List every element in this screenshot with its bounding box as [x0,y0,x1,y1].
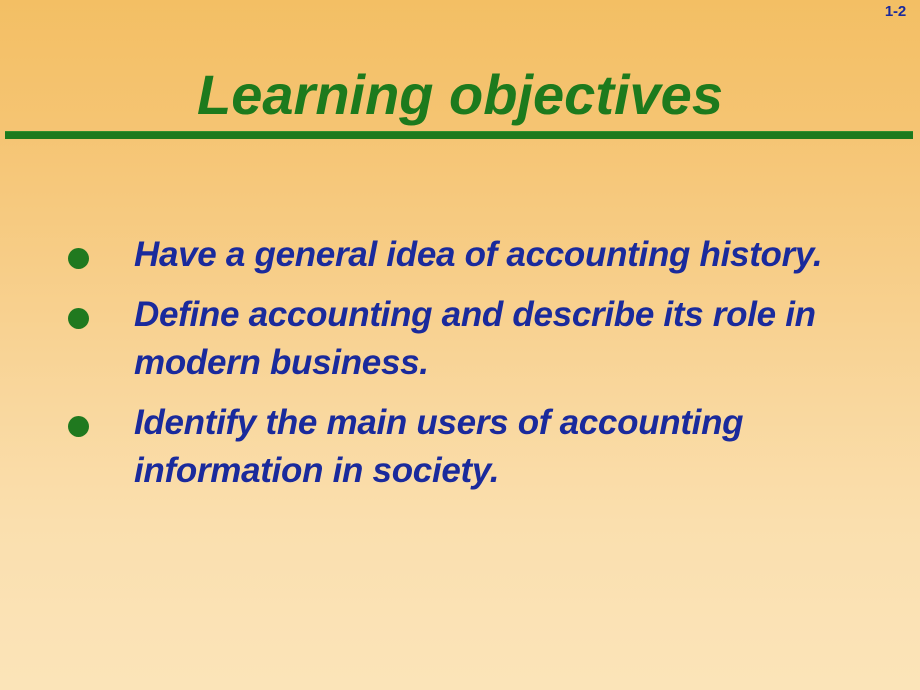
objectives-list: Have a general idea of accounting histor… [58,231,888,507]
bullet-circle-icon [68,248,89,269]
bullet-circle-icon [68,308,89,329]
presentation-slide: 1-2 Learning objectives Have a general i… [0,0,920,690]
bullet-circle-icon [68,416,89,437]
page-number: 1-2 [885,3,906,20]
list-item-label: Have a general idea of accounting histor… [134,231,888,279]
list-item: Have a general idea of accounting histor… [58,231,888,279]
list-item: Define accounting and describe its role … [58,291,888,387]
list-item-label: Define accounting and describe its role … [134,291,888,387]
list-item: Identify the main users of accounting in… [58,399,888,495]
list-item-label: Identify the main users of accounting in… [134,399,888,495]
title-divider [5,131,913,139]
page-title: Learning objectives [0,64,920,126]
